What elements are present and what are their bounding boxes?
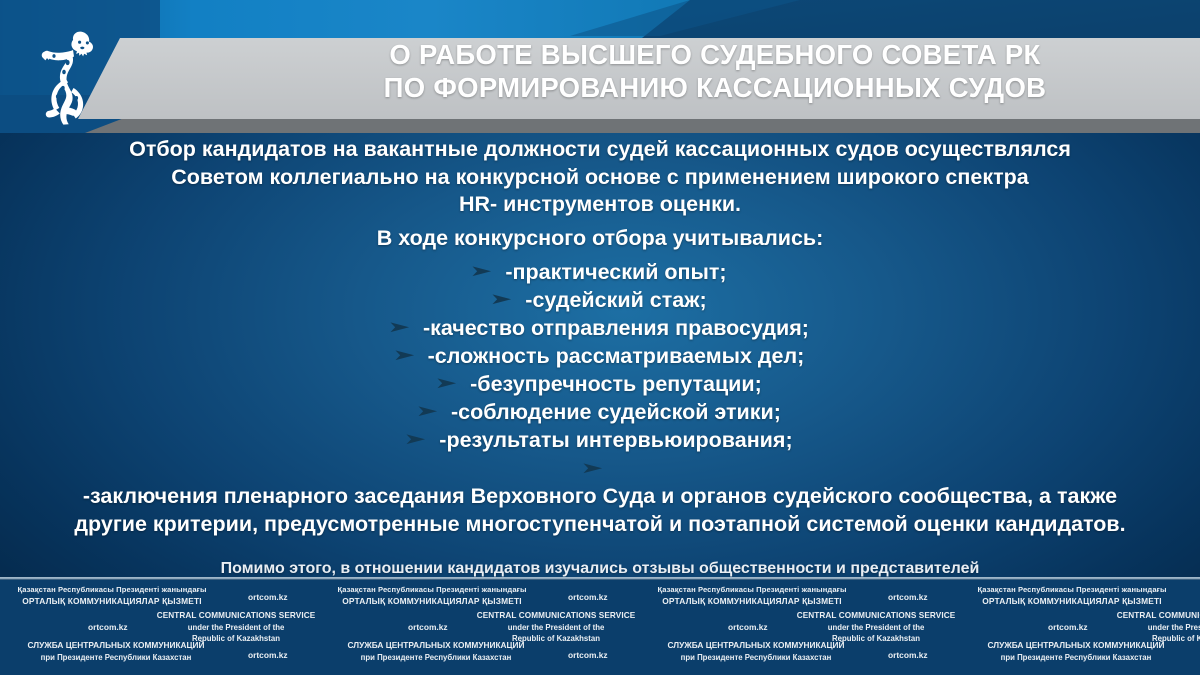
- watermark-ru-line-1: СЛУЖБА ЦЕНТРАЛЬНЫХ КОММУНИКАЦИЙ: [8, 640, 224, 652]
- lead-in-text: В ходе конкурсного отбора учитывались:: [0, 225, 1200, 253]
- list-item-label-line-1: -заключения пленарного заседания Верховн…: [22, 482, 1178, 510]
- arrow-bullet-icon: ➤: [387, 318, 410, 338]
- watermark-kazakh-block: Қазақстан Республикасы Президенті жанынд…: [644, 585, 860, 608]
- watermark-kazakh-block: Қазақстан Республикасы Президенті жанынд…: [324, 585, 540, 608]
- watermark-en-line-2: under the President of the: [774, 622, 978, 633]
- watermark-en-line-1: CENTRAL COMMUNICATIONS SERVICE: [774, 610, 978, 622]
- watermark-english-block: CENTRAL COMMUNICATIONS SERVICE under the…: [1094, 610, 1200, 644]
- footer-watermark-band: Қазақстан Республикасы Президенті жанынд…: [0, 577, 1200, 675]
- watermark-url: ortcom.kz: [728, 622, 768, 632]
- arrow-bullet-icon: ➤: [392, 346, 415, 366]
- intro-paragraph: Отбор кандидатов на вакантные должности …: [0, 136, 1200, 219]
- watermark-tile: Қазақстан Республикасы Президенті жанынд…: [956, 580, 1200, 675]
- watermark-russian-block: СЛУЖБА ЦЕНТРАЛЬНЫХ КОММУНИКАЦИЙ при През…: [968, 640, 1184, 663]
- watermark-kk-line-1: Қазақстан Республикасы Президенті жанынд…: [964, 585, 1180, 596]
- slide-body: Отбор кандидатов на вакантные должности …: [0, 136, 1200, 602]
- arrow-bullet-icon: ➤: [404, 431, 427, 451]
- list-item-label: -результаты интервьюирования;: [439, 428, 792, 452]
- watermark-english-block: CENTRAL COMMUNICATIONS SERVICE under the…: [454, 610, 658, 644]
- watermark-kk-line-2: ОРТАЛЫҚ КОММУНИКАЦИЯЛАР ҚЫЗМЕТІ: [644, 596, 860, 608]
- criteria-list: ➤-практический опыт; ➤-судейский стаж; ➤…: [0, 258, 1200, 538]
- list-item-label: -безупречность репутации;: [470, 372, 762, 396]
- watermark-kk-line-1: Қазақстан Республикасы Президенті жанынд…: [4, 585, 220, 596]
- watermark-english-block: CENTRAL COMMUNICATIONS SERVICE under the…: [134, 610, 338, 644]
- watermark-russian-block: СЛУЖБА ЦЕНТРАЛЬНЫХ КОММУНИКАЦИЙ при През…: [8, 640, 224, 663]
- watermark-en-line-2: under the President of the: [454, 622, 658, 633]
- list-item: ➤-соблюдение судейской этики;: [0, 398, 1200, 426]
- list-item: ➤-сложность рассматриваемых дел;: [0, 342, 1200, 370]
- list-item-label: -качество отправления правосудия;: [423, 316, 809, 340]
- watermark-kk-line-1: Қазақстан Республикасы Президенті жанынд…: [324, 585, 540, 596]
- intro-line-2: Советом коллегиально на конкурсной основ…: [26, 164, 1174, 192]
- watermark-ru-line-2: при Президенте Республики Казахстан: [648, 652, 864, 663]
- watermark-kk-line-2: ОРТАЛЫҚ КОММУНИКАЦИЯЛАР ҚЫЗМЕТІ: [324, 596, 540, 608]
- watermark-kk-line-1: Қазақстан Республикасы Президенті жанынд…: [644, 585, 860, 596]
- list-item-label: -сложность рассматриваемых дел;: [428, 344, 805, 368]
- watermark-url: ortcom.kz: [248, 592, 288, 602]
- watermark-kazakh-block: Қазақстан Республикасы Президенті жанынд…: [964, 585, 1180, 608]
- list-item: ➤-качество отправления правосудия;: [0, 314, 1200, 342]
- list-item-label: -судейский стаж;: [525, 288, 706, 312]
- watermark-en-line-1: CENTRAL COMMUNICATIONS SERVICE: [454, 610, 658, 622]
- watermark-kazakh-block: Қазақстан Республикасы Президенті жанынд…: [4, 585, 220, 608]
- watermark-kk-line-2: ОРТАЛЫҚ КОММУНИКАЦИЯЛАР ҚЫЗМЕТІ: [4, 596, 220, 608]
- watermark-kk-line-2: ОРТАЛЫҚ КОММУНИКАЦИЯЛАР ҚЫЗМЕТІ: [964, 596, 1180, 608]
- watermark-ru-line-1: СЛУЖБА ЦЕНТРАЛЬНЫХ КОММУНИКАЦИЙ: [968, 640, 1184, 652]
- watermark-tile: Қазақстан Республикасы Президенті жанынд…: [0, 580, 316, 675]
- title-line-1: О РАБОТЕ ВЫСШЕГО СУДЕБНОГО СОВЕТА РК: [250, 38, 1180, 71]
- intro-line-3: HR- инструментов оценки.: [26, 191, 1174, 219]
- title-line-2: ПО ФОРМИРОВАНИЮ КАССАЦИОННЫХ СУДОВ: [250, 71, 1180, 104]
- watermark-url: ortcom.kz: [568, 592, 608, 602]
- watermark-ru-line-2: при Президенте Республики Казахстан: [328, 652, 544, 663]
- arrow-bullet-icon: ➤: [435, 374, 458, 394]
- watermark-english-block: CENTRAL COMMUNICATIONS SERVICE under the…: [774, 610, 978, 644]
- watermark-tile: Қазақстан Республикасы Президенті жанынд…: [316, 580, 636, 675]
- arrow-bullet-icon: ➤: [580, 460, 603, 480]
- list-item: ➤-результаты интервьюирования;: [0, 426, 1200, 454]
- watermark-ru-line-2: при Президенте Республики Казахстан: [8, 652, 224, 663]
- arrow-bullet-icon: ➤: [490, 290, 513, 310]
- slide-header-banner: О РАБОТЕ ВЫСШЕГО СУДЕБНОГО СОВЕТА РК ПО …: [0, 0, 1200, 133]
- watermark-url: ortcom.kz: [88, 622, 128, 632]
- watermark-en-line-2: under the President of the: [1094, 622, 1200, 633]
- arrow-bullet-icon: ➤: [470, 262, 493, 282]
- watermark-tile: Қазақстан Республикасы Президенті жанынд…: [636, 580, 956, 675]
- arrow-bullet-icon: ➤: [415, 403, 438, 423]
- list-item: ➤-безупречность репутации;: [0, 370, 1200, 398]
- watermark-en-line-1: CENTRAL COMMUNICATIONS SERVICE: [1094, 610, 1200, 622]
- list-item-label: -заключения пленарного заседания Верховн…: [22, 482, 1178, 538]
- watermark-russian-block: СЛУЖБА ЦЕНТРАЛЬНЫХ КОММУНИКАЦИЙ при През…: [328, 640, 544, 663]
- watermark-en-line-1: CENTRAL COMMUNICATIONS SERVICE: [134, 610, 338, 622]
- watermark-ru-line-1: СЛУЖБА ЦЕНТРАЛЬНЫХ КОММУНИКАЦИЙ: [648, 640, 864, 652]
- watermark-url: ortcom.kz: [248, 650, 288, 660]
- watermark-ru-line-2: при Президенте Республики Казахстан: [968, 652, 1184, 663]
- watermark-url: ortcom.kz: [888, 592, 928, 602]
- list-item: ➤-судейский стаж;: [0, 286, 1200, 314]
- list-item-label-line-2: другие критерии, предусмотренные многост…: [22, 510, 1178, 538]
- watermark-russian-block: СЛУЖБА ЦЕНТРАЛЬНЫХ КОММУНИКАЦИЙ при През…: [648, 640, 864, 663]
- list-item: ➤-заключения пленарного заседания Верхов…: [0, 454, 1200, 538]
- watermark-url: ortcom.kz: [568, 650, 608, 660]
- list-item-label: -практический опыт;: [505, 260, 726, 284]
- list-item-label: -соблюдение судейской этики;: [451, 400, 781, 424]
- watermark-url: ortcom.kz: [408, 622, 448, 632]
- presentation-slide: О РАБОТЕ ВЫСШЕГО СУДЕБНОГО СОВЕТА РК ПО …: [0, 0, 1200, 675]
- watermark-en-line-2: under the President of the: [134, 622, 338, 633]
- watermark-url: ortcom.kz: [888, 650, 928, 660]
- watermark-url: ortcom.kz: [1048, 622, 1088, 632]
- list-item: ➤-практический опыт;: [0, 258, 1200, 286]
- watermark-ru-line-1: СЛУЖБА ЦЕНТРАЛЬНЫХ КОММУНИКАЦИЙ: [328, 640, 544, 652]
- intro-line-1: Отбор кандидатов на вакантные должности …: [26, 136, 1174, 164]
- slide-title: О РАБОТЕ ВЫСШЕГО СУДЕБНОГО СОВЕТА РК ПО …: [250, 38, 1180, 104]
